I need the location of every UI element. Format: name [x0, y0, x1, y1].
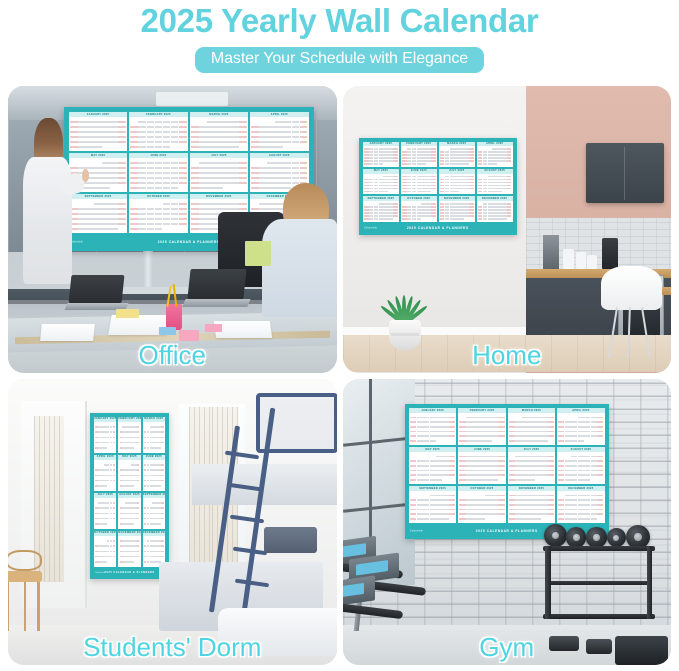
day-cell: [483, 215, 488, 217]
month-cell: JUNE 2025: [457, 446, 506, 485]
day-cell: [478, 157, 483, 159]
day-cell: [584, 435, 590, 437]
day-cell: [102, 218, 110, 220]
day-cell: [207, 131, 215, 133]
day-cell: [507, 182, 512, 184]
day-cell: [528, 499, 534, 501]
month-cell: FEBRUARY 2025: [128, 111, 188, 152]
day-cell: [155, 177, 163, 179]
day-cell: [251, 121, 259, 123]
day-cell: [118, 203, 126, 205]
day-cell: [584, 504, 590, 506]
month-days: [129, 158, 187, 192]
day-cell: [179, 167, 187, 169]
day-cell: [407, 182, 412, 184]
dorm-scene: JANUARY 2025FEBRUARY 2025MARCH 2025APRIL…: [8, 379, 337, 666]
day-cell: [535, 417, 541, 419]
day-cell: [445, 176, 450, 178]
day-cell: [113, 523, 116, 525]
day-cell: [138, 182, 146, 184]
day-cell: [472, 460, 478, 462]
week-row: [410, 426, 455, 428]
day-cell: [118, 136, 126, 138]
day-cell: [147, 162, 155, 164]
day-cell: [155, 121, 163, 123]
day-cell: [541, 474, 547, 476]
day-cell: [436, 513, 442, 515]
day-cell: [445, 218, 450, 220]
day-cell: [522, 431, 528, 433]
day-cell: [565, 509, 571, 511]
month-cell: SEPTEMBER 2025: [362, 195, 400, 222]
day-cell: [179, 218, 187, 220]
day-cell: [469, 163, 474, 165]
day-cell: [393, 154, 398, 156]
day-cell: [442, 421, 448, 423]
day-cell: [430, 509, 436, 511]
day-cell: [147, 218, 155, 220]
day-cell: [267, 162, 275, 164]
day-cell: [507, 206, 512, 208]
panel-office[interactable]: JANUARY 2025FEBRUARY 2025MARCH 2025APRIL…: [8, 86, 337, 373]
day-cell: [548, 456, 554, 458]
week-row: [364, 151, 398, 153]
day-cell: [436, 474, 442, 476]
month-days: [458, 413, 505, 445]
day-cell: [522, 495, 528, 497]
day-cell: [300, 146, 308, 148]
day-cell: [436, 509, 442, 511]
day-cell: [431, 182, 436, 184]
day-cell: [94, 136, 102, 138]
month-days: [129, 199, 187, 233]
day-cell: [423, 499, 429, 501]
day-cell: [515, 431, 521, 433]
day-cell: [466, 504, 472, 506]
week-row: [144, 447, 164, 449]
week-row: [459, 440, 504, 442]
week-row: [440, 148, 474, 150]
day-cell: [110, 177, 118, 179]
day-cell: [283, 177, 291, 179]
day-cell: [558, 518, 564, 520]
day-cell: [110, 480, 113, 482]
day-cell: [479, 495, 485, 497]
day-cell: [78, 223, 86, 225]
day-cell: [502, 154, 507, 156]
day-cell: [283, 146, 291, 148]
day-cell: [113, 437, 116, 439]
week-row: [410, 440, 455, 442]
panel-gym[interactable]: JANUARY 2025FEBRUARY 2025MARCH 2025APRIL…: [343, 379, 672, 666]
week-row: [191, 182, 247, 184]
day-cell: [584, 474, 590, 476]
day-cell: [440, 185, 445, 187]
day-cell: [267, 167, 275, 169]
month-days: [477, 174, 513, 194]
day-cell: [292, 126, 300, 128]
week-row: [410, 499, 455, 501]
day-cell: [300, 136, 308, 138]
day-cell: [492, 504, 498, 506]
day-cell: [191, 121, 199, 123]
day-cell: [369, 218, 374, 220]
day-cell: [449, 440, 455, 442]
day-cell: [155, 167, 163, 169]
day-cell: [591, 421, 597, 423]
day-cell: [113, 426, 116, 428]
day-cell: [558, 509, 564, 511]
weight-plate: [544, 524, 567, 547]
day-cell: [161, 545, 164, 547]
day-cell: [571, 518, 577, 520]
day-cell: [138, 218, 146, 220]
week-row: [402, 206, 436, 208]
day-cell: [541, 470, 547, 472]
day-cell: [374, 176, 379, 178]
day-cell: [466, 431, 472, 433]
day-cell: [110, 523, 113, 525]
day-cell: [440, 163, 445, 165]
day-cell: [147, 507, 150, 509]
day-cell: [147, 556, 150, 558]
day-cell: [407, 176, 412, 178]
day-cell: [138, 162, 146, 164]
poster-footer-text: 2025 CALENDAR & PLANNERS: [158, 240, 220, 244]
potted-plant: [369, 264, 441, 350]
month-cell: OCTOBER 2025: [400, 195, 438, 222]
week-row: [191, 208, 247, 210]
day-cell: [498, 460, 504, 462]
day-cell: [364, 188, 369, 190]
day-cell: [223, 167, 231, 169]
day-cell: [479, 504, 485, 506]
day-cell: [147, 540, 150, 542]
week-row: [459, 470, 504, 472]
pen-cup: [166, 304, 182, 330]
day-cell: [597, 417, 603, 419]
day-cell: [436, 465, 442, 467]
day-cell: [423, 509, 429, 511]
day-cell: [163, 172, 171, 174]
paper-sheet: [40, 324, 94, 341]
day-cell: [147, 431, 150, 433]
day-cell: [469, 212, 474, 214]
dumbbell-rack: [543, 527, 655, 619]
day-cell: [436, 460, 442, 462]
day-cell: [430, 518, 436, 520]
day-cell: [199, 167, 207, 169]
chair-leg: [641, 307, 651, 358]
week-row: [251, 162, 307, 164]
day-cell: [515, 470, 521, 472]
week-row: [130, 182, 186, 184]
day-cell: [442, 495, 448, 497]
day-cell: [155, 136, 163, 138]
day-cell: [417, 435, 423, 437]
day-cell: [565, 435, 571, 437]
day-cell: [509, 440, 515, 442]
day-cell: [94, 187, 102, 189]
day-cell: [440, 218, 445, 220]
day-cell: [469, 203, 474, 205]
week-row: [410, 465, 455, 467]
day-cell: [578, 513, 584, 515]
week-row: [251, 136, 307, 138]
day-cell: [161, 556, 164, 558]
floor-dumbbell: [586, 639, 612, 653]
month-days: [477, 201, 513, 221]
day-cell: [548, 440, 554, 442]
day-cell: [483, 151, 488, 153]
day-cell: [485, 465, 491, 467]
day-cell: [94, 126, 102, 128]
day-cell: [584, 431, 590, 433]
day-cell: [275, 167, 283, 169]
day-cell: [231, 167, 239, 169]
week-row: [130, 213, 186, 215]
week-row: [402, 148, 436, 150]
day-cell: [402, 176, 407, 178]
day-cell: [130, 167, 138, 169]
week-row: [95, 561, 115, 563]
day-cell: [402, 160, 407, 162]
day-cell: [393, 160, 398, 162]
day-cell: [239, 182, 247, 184]
day-cell: [535, 518, 541, 520]
day-cell: [364, 148, 369, 150]
day-cell: [283, 172, 291, 174]
sticky-note: [245, 241, 271, 267]
week-row: [70, 228, 126, 230]
week-row: [509, 456, 554, 458]
day-cell: [94, 167, 102, 169]
gym-scene: JANUARY 2025FEBRUARY 2025MARCH 2025APRIL…: [343, 379, 672, 666]
day-cell: [364, 154, 369, 156]
day-cell: [436, 504, 442, 506]
week-row: [364, 209, 398, 211]
day-cell: [464, 182, 469, 184]
week-row: [95, 551, 115, 553]
day-cell: [179, 228, 187, 230]
day-cell: [464, 215, 469, 217]
panel-home[interactable]: JANUARY 2025FEBRUARY 2025MARCH 2025APRIL…: [343, 86, 672, 373]
month-days: [190, 117, 248, 151]
day-cell: [292, 136, 300, 138]
month-cell: AUGUST 2025: [117, 492, 141, 530]
day-cell: [445, 179, 450, 181]
day-cell: [445, 182, 450, 184]
day-cell: [410, 456, 416, 458]
chair-seat: [8, 571, 42, 582]
day-cell: [207, 208, 215, 210]
day-cell: [113, 540, 116, 542]
day-cell: [138, 208, 146, 210]
week-row: [478, 182, 512, 184]
day-cell: [171, 203, 179, 205]
month-cell: JUNE 2025: [142, 454, 166, 492]
week-row: [364, 182, 398, 184]
day-cell: [541, 479, 547, 481]
day-cell: [199, 208, 207, 210]
week-row: [509, 421, 554, 423]
day-cell: [426, 191, 431, 193]
day-cell: [464, 185, 469, 187]
day-cell: [597, 431, 603, 433]
week-row: [364, 188, 398, 190]
panel-dorm[interactable]: JANUARY 2025FEBRUARY 2025MARCH 2025APRIL…: [8, 379, 337, 666]
day-cell: [110, 475, 113, 477]
day-cell: [86, 141, 94, 143]
day-cell: [565, 440, 571, 442]
month-cell: FEBRUARY 2025: [117, 416, 141, 454]
day-cell: [130, 228, 138, 230]
day-cell: [110, 485, 113, 487]
day-cell: [163, 162, 171, 164]
day-cell: [417, 495, 423, 497]
window-mullion: [343, 503, 415, 514]
day-cell: [207, 136, 215, 138]
sticky-note: [159, 327, 175, 336]
day-cell: [364, 212, 369, 214]
week-row: [130, 177, 186, 179]
week-row: [558, 440, 603, 442]
day-cell: [113, 447, 116, 449]
week-row: [191, 172, 247, 174]
day-cell: [483, 176, 488, 178]
day-cell: [155, 213, 163, 215]
day-cell: [558, 504, 564, 506]
day-cell: [498, 431, 504, 433]
week-row: [478, 191, 512, 193]
day-cell: [459, 509, 465, 511]
day-cell: [364, 163, 369, 165]
day-cell: [402, 191, 407, 193]
day-cell: [485, 479, 491, 481]
day-cell: [179, 223, 187, 225]
week-row: [558, 509, 603, 511]
day-cell: [393, 203, 398, 205]
day-cell: [407, 148, 412, 150]
day-cell: [578, 470, 584, 472]
day-cell: [215, 136, 223, 138]
week-row: [95, 480, 115, 482]
day-cell: [497, 188, 502, 190]
day-cell: [464, 160, 469, 162]
week-row: [364, 185, 398, 187]
day-cell: [459, 417, 465, 419]
day-cell: [417, 518, 423, 520]
day-cell: [472, 465, 478, 467]
day-cell: [292, 172, 300, 174]
day-cell: [137, 545, 140, 547]
day-cell: [558, 421, 564, 423]
day-cell: [223, 121, 231, 123]
week-row: [440, 157, 474, 159]
day-cell: [472, 417, 478, 419]
day-cell: [459, 440, 465, 442]
day-cell: [130, 131, 138, 133]
week-row: [119, 447, 139, 449]
day-cell: [364, 203, 369, 205]
day-cell: [449, 504, 455, 506]
day-cell: [300, 121, 308, 123]
day-cell: [558, 435, 564, 437]
day-cell: [393, 206, 398, 208]
day-cell: [464, 218, 469, 220]
day-cell: [464, 212, 469, 214]
day-cell: [102, 162, 110, 164]
day-cell: [130, 218, 138, 220]
day-cell: [102, 141, 110, 143]
day-cell: [528, 470, 534, 472]
day-cell: [485, 495, 491, 497]
day-cell: [507, 163, 512, 165]
day-cell: [436, 479, 442, 481]
calendar-poster-home: JANUARY 2025FEBRUARY 2025MARCH 2025APRIL…: [359, 138, 517, 235]
day-cell: [78, 228, 86, 230]
day-cell: [374, 179, 379, 181]
day-cell: [483, 185, 488, 187]
poster-footer: Goldenlinth 2025 CALENDAR & PLANNERS: [92, 569, 167, 577]
day-cell: [86, 167, 94, 169]
week-row: [144, 442, 164, 444]
week-row: [95, 513, 115, 515]
rack-middle-bar: [545, 581, 652, 586]
day-cell: [483, 218, 488, 220]
day-cell: [86, 136, 94, 138]
week-row: [410, 518, 455, 520]
day-cell: [479, 417, 485, 419]
week-row: [119, 442, 139, 444]
day-cell: [86, 146, 94, 148]
day-cell: [147, 469, 150, 471]
month-cell: JANUARY 2025: [362, 141, 400, 168]
month-cell: NOVEMBER 2025: [117, 530, 141, 568]
week-row: [558, 456, 603, 458]
day-cell: [445, 148, 450, 150]
day-cell: [492, 426, 498, 428]
day-cell: [558, 417, 564, 419]
month-days: [363, 174, 399, 194]
week-row: [402, 215, 436, 217]
day-cell: [147, 141, 155, 143]
day-cell: [207, 223, 215, 225]
day-cell: [113, 518, 116, 520]
day-cell: [442, 513, 448, 515]
month-days: [118, 498, 140, 529]
day-cell: [374, 188, 379, 190]
day-cell: [207, 228, 215, 230]
day-cell: [364, 160, 369, 162]
day-cell: [466, 440, 472, 442]
day-cell: [147, 121, 155, 123]
day-cell: [423, 513, 429, 515]
day-cell: [110, 228, 118, 230]
day-cell: [522, 499, 528, 501]
day-cell: [584, 470, 590, 472]
day-cell: [179, 121, 187, 123]
day-cell: [239, 187, 247, 189]
week-row: [144, 426, 164, 428]
day-cell: [591, 440, 597, 442]
week-row: [119, 475, 139, 477]
day-cell: [541, 509, 547, 511]
day-cell: [207, 187, 215, 189]
day-cell: [137, 464, 140, 466]
day-cell: [138, 187, 146, 189]
day-cell: [445, 212, 450, 214]
